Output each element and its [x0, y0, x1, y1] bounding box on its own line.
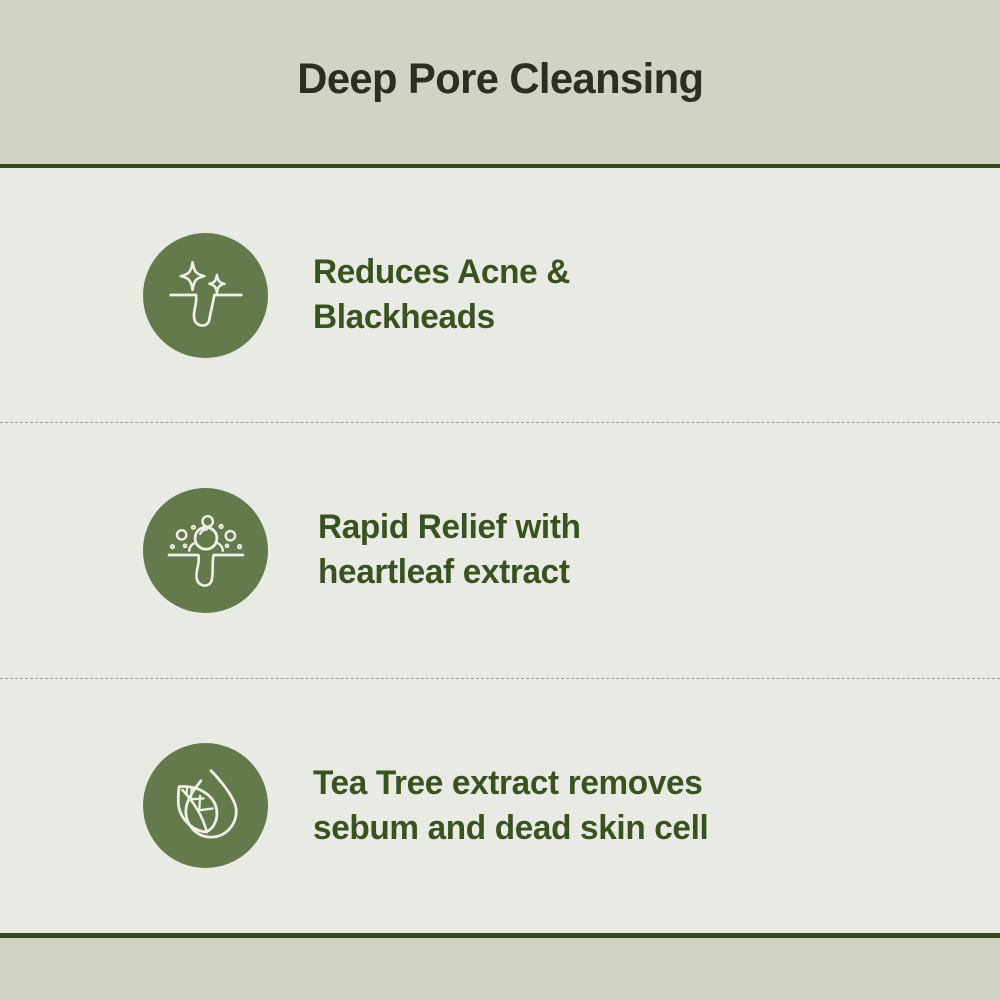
- feature-row: Reduces Acne & Blackheads: [0, 168, 1000, 422]
- deep-pore-cleansing-infographic: Deep Pore Cleansing: [0, 0, 1000, 1000]
- feature-row: Rapid Relief with heartleaf extract: [0, 423, 1000, 677]
- page-title: Deep Pore Cleansing: [297, 57, 703, 106]
- sparkle-pore-icon: [143, 233, 268, 358]
- footer-banner: [0, 938, 1000, 1000]
- bubbles-pore-icon: [143, 488, 268, 613]
- header-banner: Deep Pore Cleansing: [0, 0, 1000, 164]
- feature-text: Rapid Relief with heartleaf extract: [318, 505, 581, 595]
- feature-row: Tea Tree extract removes sebum and dead …: [0, 679, 1000, 933]
- feature-text: Tea Tree extract removes sebum and dead …: [313, 761, 708, 851]
- feature-text: Reduces Acne & Blackheads: [313, 250, 570, 340]
- leaf-droplet-icon: [143, 743, 268, 868]
- feature-list: Reduces Acne & Blackheads: [0, 168, 1000, 933]
